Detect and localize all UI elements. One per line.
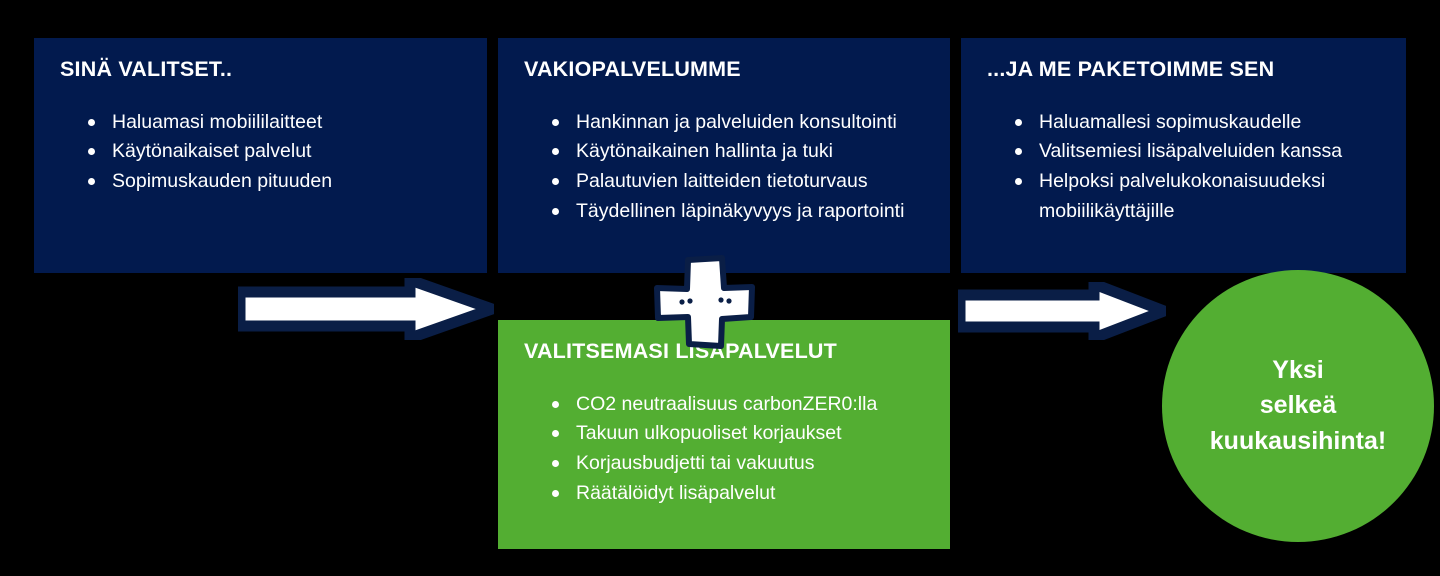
panel-you-choose: SINÄ VALITSET.. Haluamasi mobiililaittee…: [34, 38, 487, 273]
right-arrow-icon: [238, 278, 494, 340]
list-item: Hankinnan ja palveluiden konsultointi: [552, 108, 924, 138]
list-item: Haluamasi mobiililaitteet: [88, 108, 461, 138]
price-circle: Yksi selkeä kuukausihinta!: [1162, 270, 1434, 542]
bullet-list-standard-services: Hankinnan ja palveluiden konsultointi Kä…: [524, 108, 924, 227]
list-item: CO2 neutraalisuus carbonZER0:lla: [552, 390, 924, 420]
list-item: Valitsemiesi lisäpalveluiden kanssa: [1015, 137, 1380, 167]
bullet-list-you-choose: Haluamasi mobiililaitteet Käytönaikaiset…: [60, 108, 461, 197]
list-item: Käytönaikainen hallinta ja tuki: [552, 137, 924, 167]
panel-standard-services: VAKIOPALVELUMME Hankinnan ja palveluiden…: [498, 38, 950, 273]
price-circle-line-3: kuukausihinta!: [1210, 424, 1386, 460]
list-item: Haluamallesi sopimuskaudelle: [1015, 108, 1380, 138]
list-item: Täydellinen läpinäkyvyys ja raportointi: [552, 197, 924, 227]
price-circle-line-1: Yksi: [1272, 353, 1323, 389]
right-arrow-icon: [958, 282, 1166, 340]
list-item: Takuun ulkopuoliset korjaukset: [552, 419, 924, 449]
panel-title-standard-services: VAKIOPALVELUMME: [524, 58, 924, 82]
panel-chosen-extra-services: VALITSEMASI LISÄPALVELUT CO2 neutraalisu…: [498, 320, 950, 549]
list-item: Sopimuskauden pituuden: [88, 167, 461, 197]
panel-title-you-choose: SINÄ VALITSET..: [60, 58, 461, 82]
list-item: Helpoksi palvelukokonaisuudeksi mobiilik…: [1015, 167, 1380, 226]
list-item: Käytönaikaiset palvelut: [88, 137, 461, 167]
price-circle-line-2: selkeä: [1260, 388, 1336, 424]
list-item: Palautuvien laitteiden tietoturvaus: [552, 167, 924, 197]
plus-icon: [652, 254, 756, 350]
list-item: Räätälöidyt lisäpalvelut: [552, 479, 924, 509]
bullet-list-we-package-it: Haluamallesi sopimuskaudelle Valitsemies…: [987, 108, 1380, 227]
panel-we-package-it: ...JA ME PAKETOIMME SEN Haluamallesi sop…: [961, 38, 1406, 273]
diagram-canvas: SINÄ VALITSET.. Haluamasi mobiililaittee…: [0, 0, 1440, 576]
list-item: Korjausbudjetti tai vakuutus: [552, 449, 924, 479]
panel-title-we-package-it: ...JA ME PAKETOIMME SEN: [987, 58, 1380, 82]
bullet-list-chosen-extra-services: CO2 neutraalisuus carbonZER0:lla Takuun …: [524, 390, 924, 509]
